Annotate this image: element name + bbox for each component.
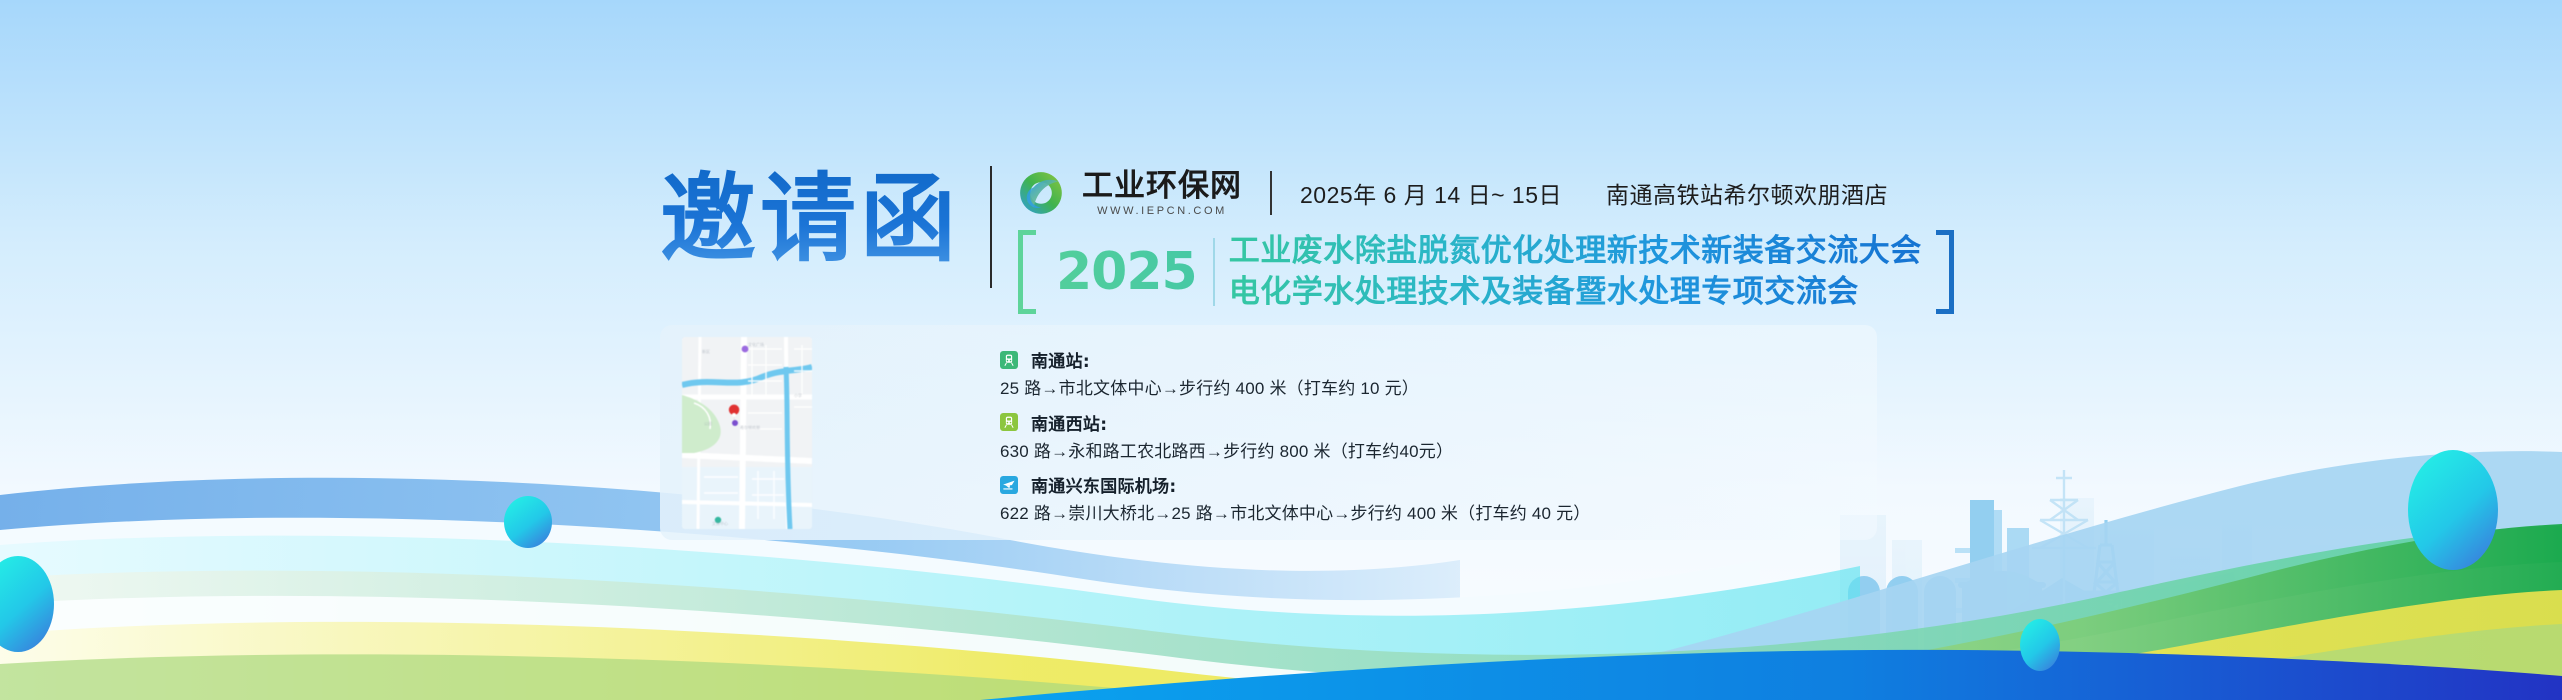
svg-text:新区: 新区	[702, 348, 710, 354]
bracket-right-icon	[1936, 230, 1954, 314]
svg-text:文化广场: 文化广场	[748, 341, 764, 347]
bracket-left-icon	[1018, 230, 1036, 314]
transport-list: 南通站: 25 路→市北文体中心→步行约 400 米（打车约 10 元） 南通西…	[1000, 347, 1859, 526]
transport-item-3-detail: 622 路→崇川大桥北→25 路→市北文体中心→步行约 400 米（打车约 40…	[1000, 502, 1859, 526]
airplane-icon	[1000, 476, 1018, 494]
transport-item-3: 南通兴东国际机场: 622 路→崇川大桥北→25 路→市北文体中心→步行约 40…	[1000, 472, 1859, 526]
invitation-banner: 邀请函	[0, 0, 2562, 700]
decor-ball-small	[2020, 619, 2060, 671]
decor-ball-mid	[504, 496, 552, 548]
organizer-name: 工业环保网	[1082, 169, 1242, 203]
svg-text:文体中心: 文体中心	[712, 520, 728, 526]
organizer-website: WWW.IEPCN.COM	[1097, 204, 1227, 218]
header-divider	[990, 166, 992, 288]
event-date: 2025年 6 月 14 日~ 15日	[1300, 176, 1562, 210]
transport-item-3-name: 南通兴东国际机场:	[1031, 472, 1177, 497]
transport-panel: 新区文化广场 公园希尔顿欢朋 小学文体中心 南通站:	[660, 325, 1877, 540]
transport-item-1: 南通站: 25 路→市北文体中心→步行约 400 米（打车约 10 元）	[1000, 347, 1859, 401]
train-icon	[1000, 351, 1018, 369]
organizer-wordmark: 工业环保网 WWW.IEPCN.COM	[1082, 169, 1242, 218]
svg-text:公园: 公园	[704, 420, 712, 426]
transport-item-2: 南通西站: 630 路→永和路工农北路西→步行约 800 米（打车约40元）	[1000, 410, 1859, 464]
conference-titles: 工业废水除盐脱氮优化处理新技术新装备交流大会 电化学水处理技术及装备暨水处理专项…	[1229, 230, 1936, 314]
svg-text:小学: 小学	[794, 392, 802, 398]
transport-item-2-head: 南通西站:	[1000, 410, 1859, 435]
page-title: 邀请函	[660, 160, 960, 278]
transport-item-2-name: 南通西站:	[1031, 410, 1107, 435]
conference-title-line-2: 电化学水处理技术及装备暨水处理专项交流会	[1229, 272, 1922, 313]
meta-divider	[1270, 171, 1272, 215]
title-divider	[1213, 238, 1215, 306]
transport-item-1-detail: 25 路→市北文体中心→步行约 400 米（打车约 10 元）	[1000, 377, 1859, 401]
event-venue: 南通高铁站希尔顿欢朋酒店	[1606, 176, 1888, 210]
transport-item-3-head: 南通兴东国际机场:	[1000, 472, 1859, 497]
leaf-circle-logo-icon	[1018, 170, 1064, 216]
organizer-row: 工业环保网 WWW.IEPCN.COM 2025年 6 月 14 日~ 15日 …	[1018, 164, 1954, 222]
transport-item-1-head: 南通站:	[1000, 347, 1859, 372]
venue-location-map[interactable]: 新区文化广场 公园希尔顿欢朋 小学文体中心	[682, 337, 812, 529]
decor-ball-right	[2408, 450, 2498, 570]
svg-text:希尔顿欢朋: 希尔顿欢朋	[740, 424, 760, 430]
conference-title-line-1: 工业废水除盐脱氮优化处理新技术新装备交流大会	[1229, 231, 1922, 272]
banner-header: 邀请函	[660, 160, 1920, 300]
train-icon	[1000, 413, 1018, 431]
conference-title-block: 2025 工业废水除盐脱氮优化处理新技术新装备交流大会 电化学水处理技术及装备暨…	[1018, 230, 1954, 314]
transport-item-1-name: 南通站:	[1031, 347, 1090, 372]
header-right: 工业环保网 WWW.IEPCN.COM 2025年 6 月 14 日~ 15日 …	[1018, 160, 1954, 314]
year-badge: 2025	[1036, 230, 1213, 314]
transport-item-2-detail: 630 路→永和路工农北路西→步行约 800 米（打车约40元）	[1000, 440, 1859, 464]
